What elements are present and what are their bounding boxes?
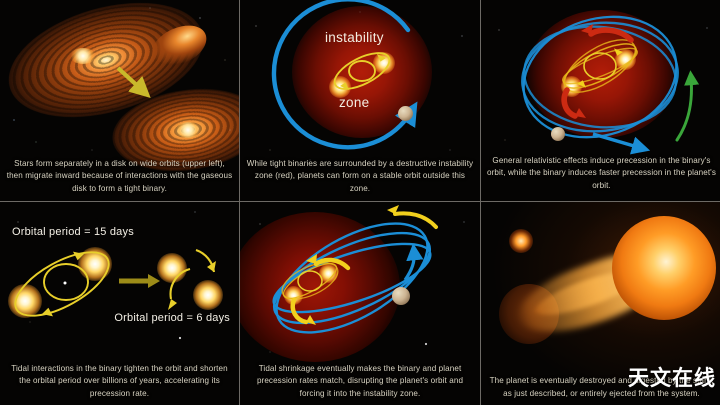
orbital-period-before-label: Orbital period = 15 days — [12, 226, 134, 238]
tight-orbit-arc-b — [171, 269, 190, 299]
companion-star — [509, 229, 533, 253]
planet-sphere-5 — [392, 287, 410, 305]
planet-precession-arrow — [677, 78, 691, 140]
planet-orbit-5-1 — [259, 202, 444, 355]
barycenter-marker — [64, 282, 67, 285]
binary-direction-arrow-a — [377, 54, 386, 62]
panel-tidal-shrinkage: Orbital period = 15 days Orbital period … — [0, 202, 239, 405]
binary-orbit-outer — [329, 46, 394, 96]
binary-precession-arrow-bottom — [564, 90, 575, 116]
panel-star-formation: Stars form separately in a disk on wide … — [0, 0, 239, 201]
planet-orbit-direction-arrow — [593, 134, 641, 148]
wide-orbit-outer — [6, 240, 118, 329]
planet-stable-orbit — [274, 0, 411, 147]
instability-label-top: instability — [325, 30, 384, 45]
instability-label-bottom: zone — [339, 95, 369, 110]
binary-orbit-inner — [349, 61, 375, 81]
primary-star — [612, 216, 716, 320]
orbital-period-after-label: Orbital period = 6 days — [114, 312, 230, 324]
planet-sphere-3 — [551, 127, 565, 141]
panel-instability-zone: instability zone — [240, 0, 480, 201]
external-precession-arrow-5 — [395, 213, 436, 227]
panel-2-caption: While tight binaries are surrounded by a… — [240, 158, 480, 201]
watermark-label: 天文在线 — [628, 362, 716, 392]
panel-4-caption: Tidal interactions in the binary tighten… — [0, 363, 239, 405]
migration-arrow — [118, 68, 142, 90]
panel-3-caption: General relativistic effects induce prec… — [481, 155, 720, 198]
shrinkage-transition-arrowhead — [148, 274, 160, 288]
panel-resonance-disruption: Tidal shrinkage eventually makes the bin… — [240, 202, 480, 405]
planet-sphere — [398, 106, 413, 121]
panel-planet-destruction: The planet is eventually destroyed and d… — [481, 202, 720, 405]
six-panel-infographic: Stars form separately in a disk on wide … — [0, 0, 720, 405]
panel-1-caption: Stars form separately in a disk on wide … — [0, 158, 239, 201]
tight-orbit-arrow-b — [168, 299, 177, 310]
panel-5-caption: Tidal shrinkage eventually makes the bin… — [240, 363, 480, 405]
panel-precession: General relativistic effects induce prec… — [481, 0, 720, 201]
